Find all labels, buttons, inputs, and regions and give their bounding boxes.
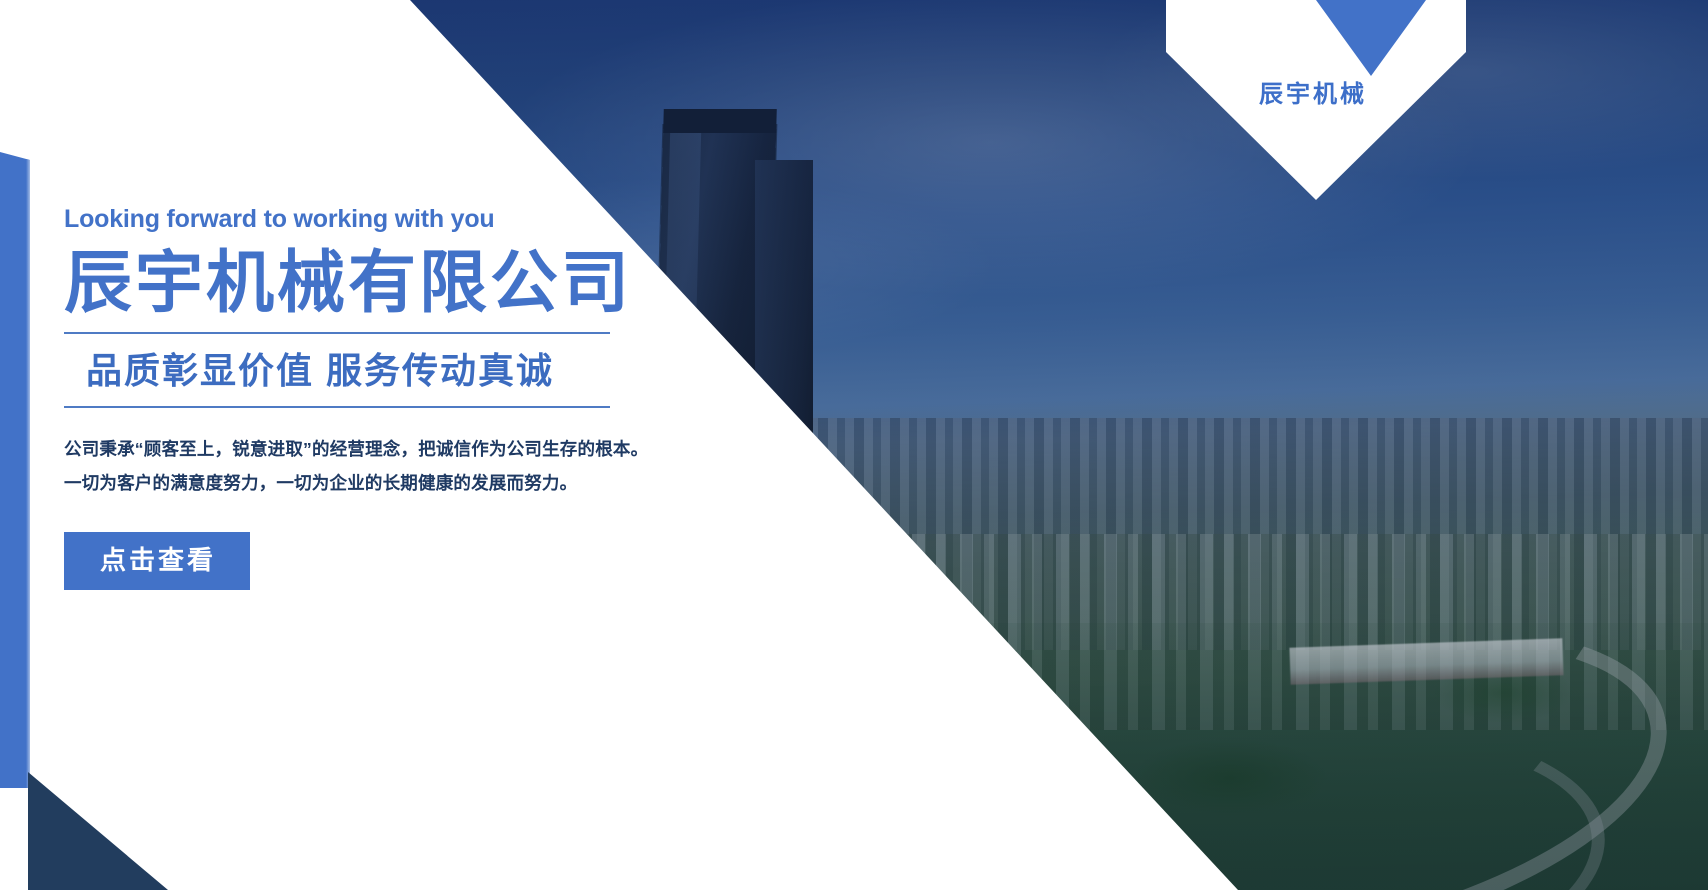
view-details-button[interactable]: 点击查看 xyxy=(64,532,250,590)
hero-description-line-2: 一切为客户的满意度努力，一切为企业的长期健康的发展而努力。 xyxy=(64,466,684,500)
hero-content: Looking forward to working with you 辰宇机械… xyxy=(64,206,684,590)
left-accent-bar-edge xyxy=(26,160,30,788)
badge-label: 辰宇机械 xyxy=(1166,74,1466,109)
brand-badge[interactable]: 辰宇机械 xyxy=(1166,0,1466,200)
hero-description: 公司秉承“顾客至上，锐意进取”的经营理念，把诚信作为公司生存的根本。 一切为客户… xyxy=(64,432,684,500)
hero-eyebrow: Looking forward to working with you xyxy=(64,206,684,234)
hero-tagline: 品质彰显价值 服务传动真诚 xyxy=(64,334,684,406)
divider-bottom xyxy=(64,406,610,408)
hero-description-line-1: 公司秉承“顾客至上，锐意进取”的经营理念，把诚信作为公司生存的根本。 xyxy=(64,432,684,466)
hero-banner: 辰宇机械 Looking forward to working with you… xyxy=(0,0,1708,890)
page-title: 辰宇机械有限公司 xyxy=(64,248,684,319)
